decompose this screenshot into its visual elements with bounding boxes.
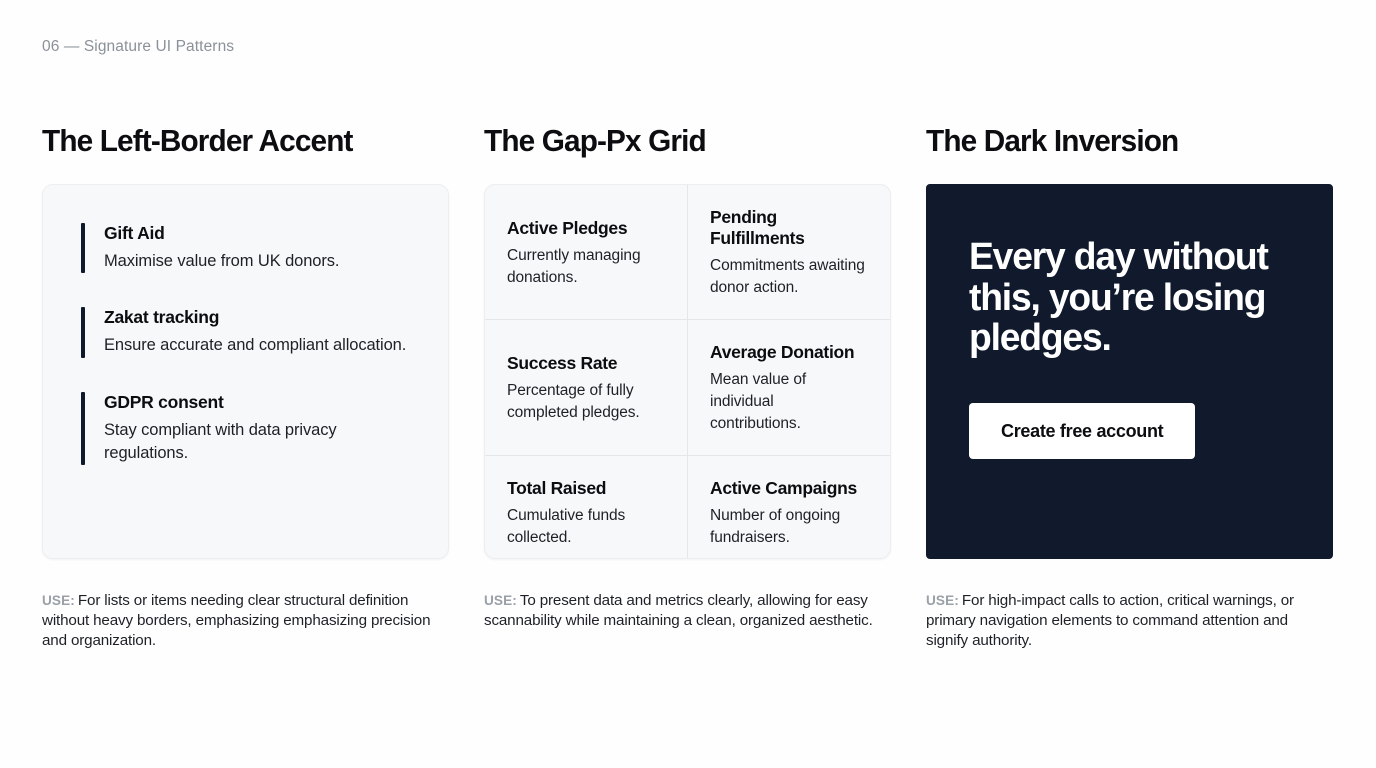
use-note: USE:For high-impact calls to action, cri… [926,591,1333,650]
accent-bar-icon [81,392,85,466]
column-title: The Left-Border Accent [42,124,433,158]
grid-cell-title: Active Pledges [507,218,665,239]
accent-item-title: Gift Aid [104,223,418,245]
use-text: For high-impact calls to action, critica… [926,592,1294,649]
grid-cell[interactable]: Active Campaigns Number of ongoing fundr… [688,456,890,559]
grid-cell-description: Cumulative funds collected. [507,505,665,549]
grid-cell-description: Currently managing donations. [507,245,665,289]
pattern-column-left-border-accent: The Left-Border Accent Gift Aid Maximise… [42,124,449,666]
use-text: For lists or items needing clear structu… [42,592,430,649]
use-label: USE: [484,593,517,608]
grid-cell-description: Commitments awaiting donor action. [710,255,868,299]
use-text: To present data and metrics clearly, all… [484,592,873,629]
pattern-column-gap-px-grid: The Gap-Px Grid Active Pledges Currently… [484,124,891,646]
accent-item-text: GDPR consent Stay compliant with data pr… [104,392,418,466]
grid-cell[interactable]: Pending Fulfillments Commitments awaitin… [688,185,890,319]
accent-list-item[interactable]: Gift Aid Maximise value from UK donors. [81,223,418,273]
accent-item-text: Zakat tracking Ensure accurate and compl… [104,307,418,357]
left-border-accent-card: Gift Aid Maximise value from UK donors. … [42,184,449,559]
accent-bar-icon [81,223,85,273]
grid-cell-title: Active Campaigns [710,478,868,499]
gap-px-grid-card: Active Pledges Currently managing donati… [484,184,891,559]
grid-cell[interactable]: Success Rate Percentage of fully complet… [485,320,687,455]
create-free-account-button[interactable]: Create free account [969,403,1195,459]
grid-cell[interactable]: Average Donation Mean value of individua… [688,320,890,455]
grid-cell[interactable]: Total Raised Cumulative funds collected. [485,456,687,559]
accent-item-title: GDPR consent [104,392,418,414]
column-title: The Dark Inversion [926,124,1317,158]
use-label: USE: [926,593,959,608]
signature-ui-patterns-page: 06 — Signature UI Patterns The Left-Bord… [0,0,1376,768]
pattern-columns: The Left-Border Accent Gift Aid Maximise… [42,124,1334,666]
column-title: The Gap-Px Grid [484,124,875,158]
grid-cell-description: Percentage of fully completed pledges. [507,380,665,424]
grid-cell-description: Number of ongoing fundraisers. [710,505,868,549]
accent-item-description: Maximise value from UK donors. [104,250,418,273]
pattern-column-dark-inversion: The Dark Inversion Every day without thi… [926,124,1333,666]
grid-cell-title: Success Rate [507,353,665,374]
grid-cell-title: Total Raised [507,478,665,499]
dark-inversion-card: Every day without this, you’re losing pl… [926,184,1333,559]
use-note: USE:For lists or items needing clear str… [42,591,449,650]
grid-cell[interactable]: Active Pledges Currently managing donati… [485,185,687,319]
accent-bar-icon [81,307,85,357]
grid-cell-title: Average Donation [710,342,868,363]
use-note: USE:To present data and metrics clearly,… [484,591,891,631]
accent-item-text: Gift Aid Maximise value from UK donors. [104,223,418,273]
page-eyebrow: 06 — Signature UI Patterns [42,38,234,56]
grid-cell-title: Pending Fulfillments [710,207,868,249]
grid-cell-description: Mean value of individual contributions. [710,369,868,435]
accent-list-item[interactable]: GDPR consent Stay compliant with data pr… [81,392,418,466]
accent-item-description: Ensure accurate and compliant allocation… [104,334,418,357]
accent-item-title: Zakat tracking [104,307,418,329]
use-label: USE: [42,593,75,608]
dark-card-headline: Every day without this, you’re losing pl… [969,237,1284,359]
accent-item-description: Stay compliant with data privacy regulat… [104,419,418,466]
accent-list-item[interactable]: Zakat tracking Ensure accurate and compl… [81,307,418,357]
